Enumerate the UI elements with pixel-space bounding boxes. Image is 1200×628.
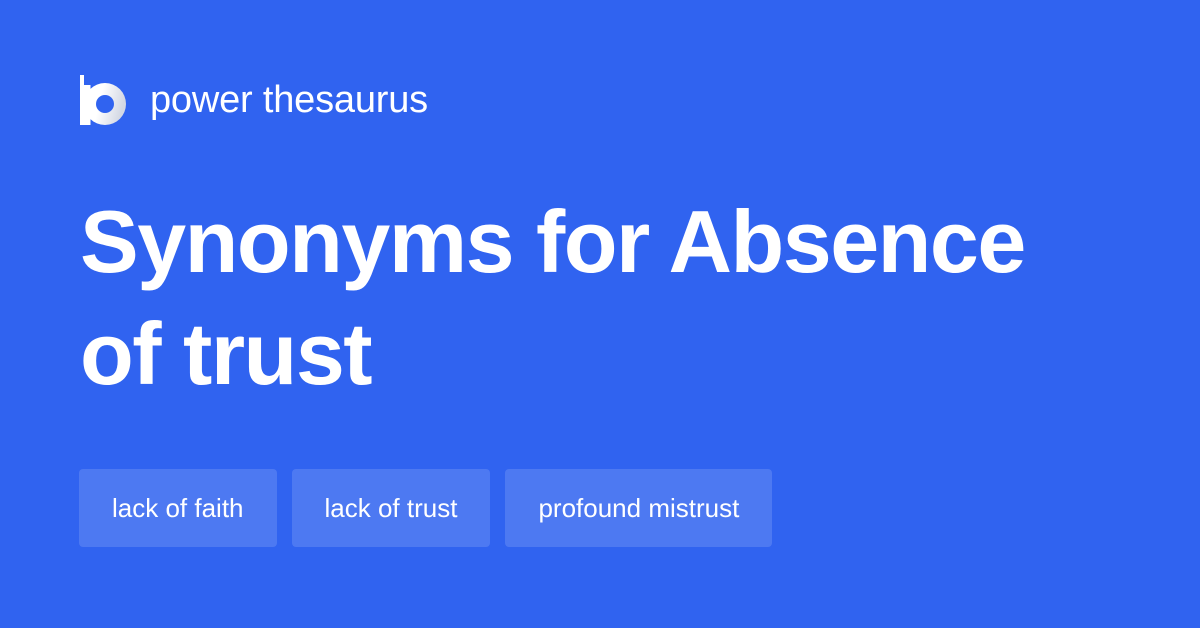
brand-name: power thesaurus bbox=[150, 81, 428, 119]
brand-lockup[interactable]: power thesaurus bbox=[80, 72, 428, 128]
og-preview-card: power thesaurus Synonyms for Absence of … bbox=[0, 0, 1200, 628]
synonym-chip[interactable]: lack of trust bbox=[292, 469, 491, 547]
synonym-chip-list: lack of faith lack of trust profound mis… bbox=[79, 469, 772, 547]
page-title: Synonyms for Absence of trust bbox=[80, 186, 1120, 410]
synonym-chip[interactable]: profound mistrust bbox=[505, 469, 772, 547]
power-thesaurus-b-logo-icon bbox=[80, 75, 126, 125]
brand-logo bbox=[80, 75, 126, 125]
synonym-chip[interactable]: lack of faith bbox=[79, 469, 277, 547]
